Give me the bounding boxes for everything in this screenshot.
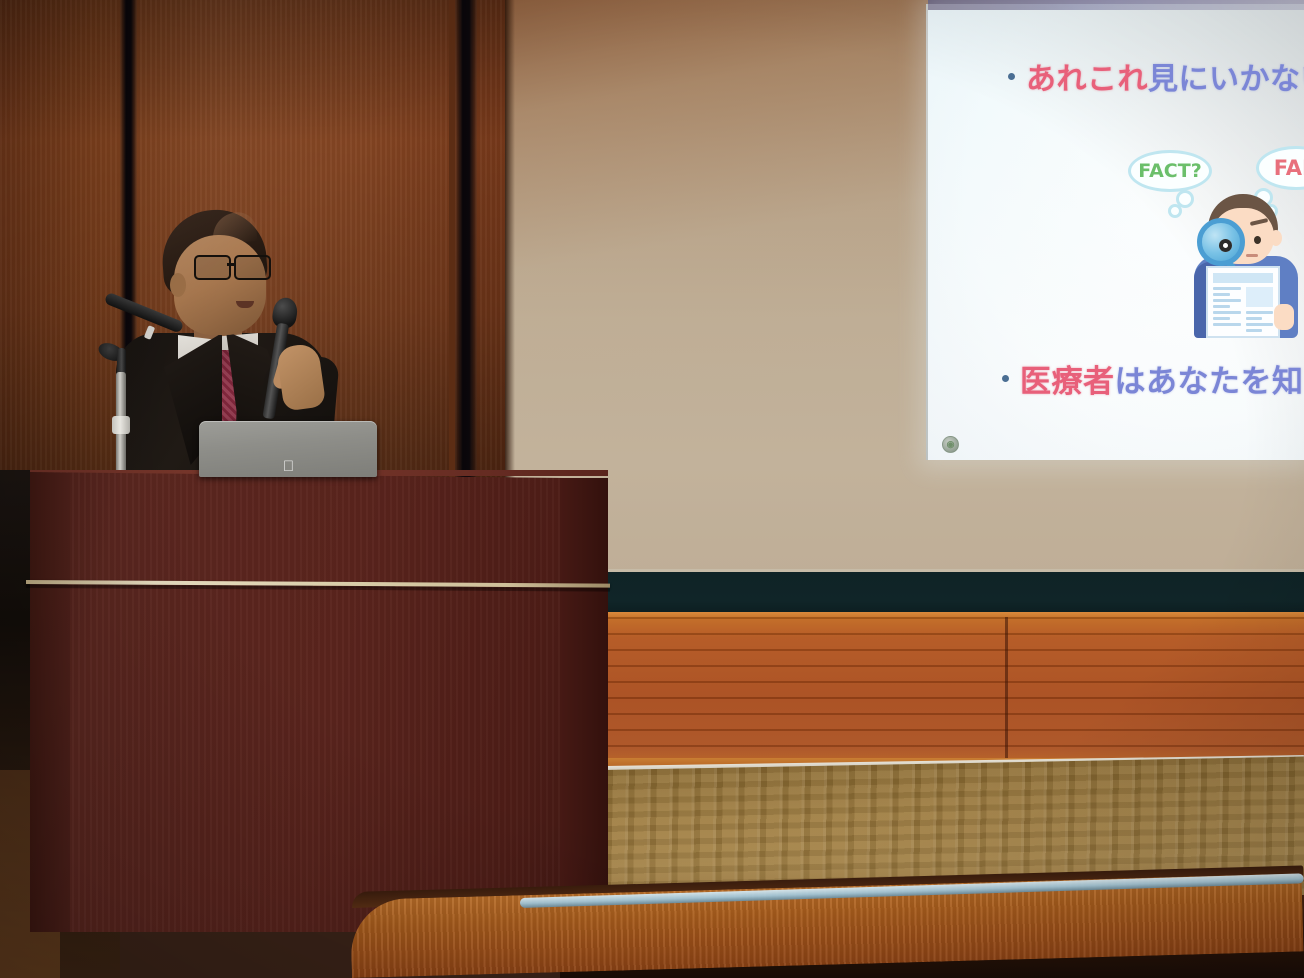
bullet-2-segment-blue: はあなたを知る情: [1115, 356, 1304, 401]
report-chart-block: [1246, 287, 1274, 307]
apple-logo-icon: : [281, 459, 296, 475]
eyeglasses-icon: [194, 255, 270, 277]
report-columns: [1213, 287, 1273, 335]
slide-bullet-2: 医療者 はあなたを知る情: [1002, 356, 1304, 401]
bullet-2-segment-red: 医療者: [1020, 356, 1115, 401]
wall-seam-right: [455, 0, 477, 500]
report-line: [1213, 311, 1241, 314]
report-line: [1246, 311, 1274, 314]
microphone-stand-clamp: [112, 416, 130, 434]
projected-slide: あれこれ 見にいかない FACT? FAK: [928, 4, 1304, 460]
boy-hand: [1274, 304, 1294, 330]
report-line: [1213, 299, 1241, 302]
lens-right: [234, 255, 271, 280]
report-column-left: [1213, 287, 1241, 335]
report-line: [1246, 323, 1274, 326]
bullet-1-segment-red: あれこれ: [1026, 54, 1148, 98]
report-line: [1213, 305, 1230, 308]
slide-illustration: FACT? FAK: [1124, 144, 1304, 339]
ear: [170, 273, 186, 297]
podium-left-face: [30, 472, 70, 932]
report-line: [1246, 317, 1263, 320]
report-document: [1206, 266, 1280, 338]
podium: [30, 472, 608, 932]
report-line: [1213, 317, 1230, 320]
bubble-tail-dot-fact-small: [1168, 204, 1182, 218]
speech-bubble-fake: FAK: [1256, 146, 1304, 190]
lens-left: [194, 255, 231, 280]
report-column-right: [1246, 287, 1274, 335]
speech-bubble-fact: FACT?: [1128, 150, 1212, 192]
laptop-lid: : [199, 421, 377, 477]
podium-right-face: [560, 478, 608, 930]
boy-eye: [1254, 236, 1261, 244]
wainscot-divider: [1005, 617, 1008, 763]
slide-bullet-1: あれこれ 見にいかない: [1008, 54, 1304, 98]
report-line: [1213, 287, 1241, 290]
report-line: [1213, 293, 1230, 296]
report-line: [1213, 323, 1241, 326]
bullet-dot-icon: [1008, 73, 1015, 80]
lecture-hall-photo: あれこれ 見にいかない FACT? FAK: [0, 0, 1304, 978]
magnifying-glass-icon: [1197, 218, 1245, 266]
report-line: [1246, 329, 1263, 332]
bullet-dot-icon: [1002, 375, 1009, 382]
boy-mouth: [1246, 254, 1258, 257]
head: [174, 235, 266, 335]
slideshow-menu-icon[interactable]: ◉: [942, 436, 959, 453]
wainscot-panel: [608, 617, 1304, 767]
bullet-1-segment-blue: 見にいかない: [1148, 54, 1304, 98]
report-header-bar: [1213, 273, 1273, 283]
